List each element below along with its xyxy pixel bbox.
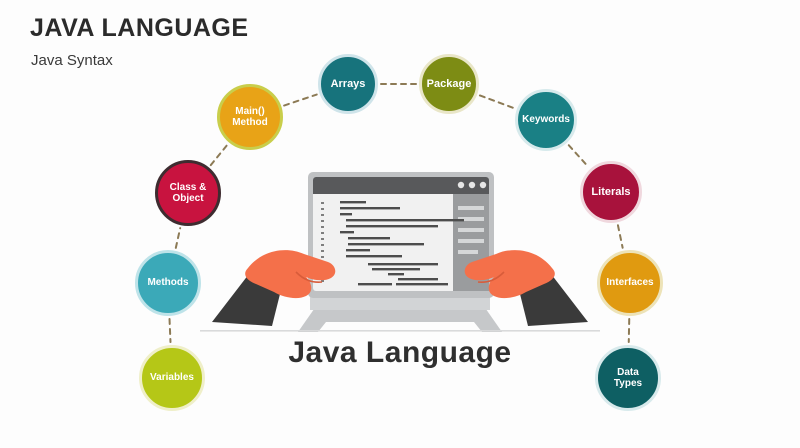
- center-caption: Java Language: [0, 336, 800, 370]
- connector-methods-to-class-object: [176, 228, 180, 248]
- tablet-illustration: [200, 150, 600, 350]
- device-frame: [308, 172, 494, 298]
- connector-literals-to-interfaces: [618, 225, 623, 247]
- ground-line: [200, 330, 600, 332]
- node-label: Keywords: [519, 114, 573, 125]
- node-label: Class &Object: [167, 182, 210, 204]
- node-label: Variables: [147, 372, 197, 383]
- node-label: Arrays: [328, 78, 369, 90]
- node-label: Main()Method: [229, 106, 271, 128]
- node-data-types[interactable]: DataTypes: [595, 345, 661, 411]
- window-dot-icon: [480, 182, 486, 188]
- window-dot-icon: [469, 182, 475, 188]
- node-literals[interactable]: Literals: [580, 161, 642, 223]
- node-label: Literals: [588, 186, 633, 198]
- slide-canvas: JAVA LANGUAGE Java Syntax: [0, 0, 800, 448]
- node-main-method[interactable]: Main()Method: [217, 84, 283, 150]
- node-variables[interactable]: Variables: [139, 345, 205, 411]
- node-label: Interfaces: [603, 277, 656, 288]
- node-class-object[interactable]: Class &Object: [155, 160, 221, 226]
- connector-main-method-to-arrays: [284, 95, 317, 106]
- connector-package-to-keywords: [480, 95, 514, 108]
- node-methods[interactable]: Methods: [135, 250, 201, 316]
- node-package[interactable]: Package: [419, 54, 479, 114]
- node-label: Methods: [144, 277, 191, 288]
- node-interfaces[interactable]: Interfaces: [597, 250, 663, 316]
- node-arrays[interactable]: Arrays: [318, 54, 378, 114]
- node-keywords[interactable]: Keywords: [515, 89, 577, 151]
- window-dot-icon: [458, 182, 464, 188]
- node-label: DataTypes: [611, 367, 645, 389]
- node-label: Package: [424, 78, 475, 90]
